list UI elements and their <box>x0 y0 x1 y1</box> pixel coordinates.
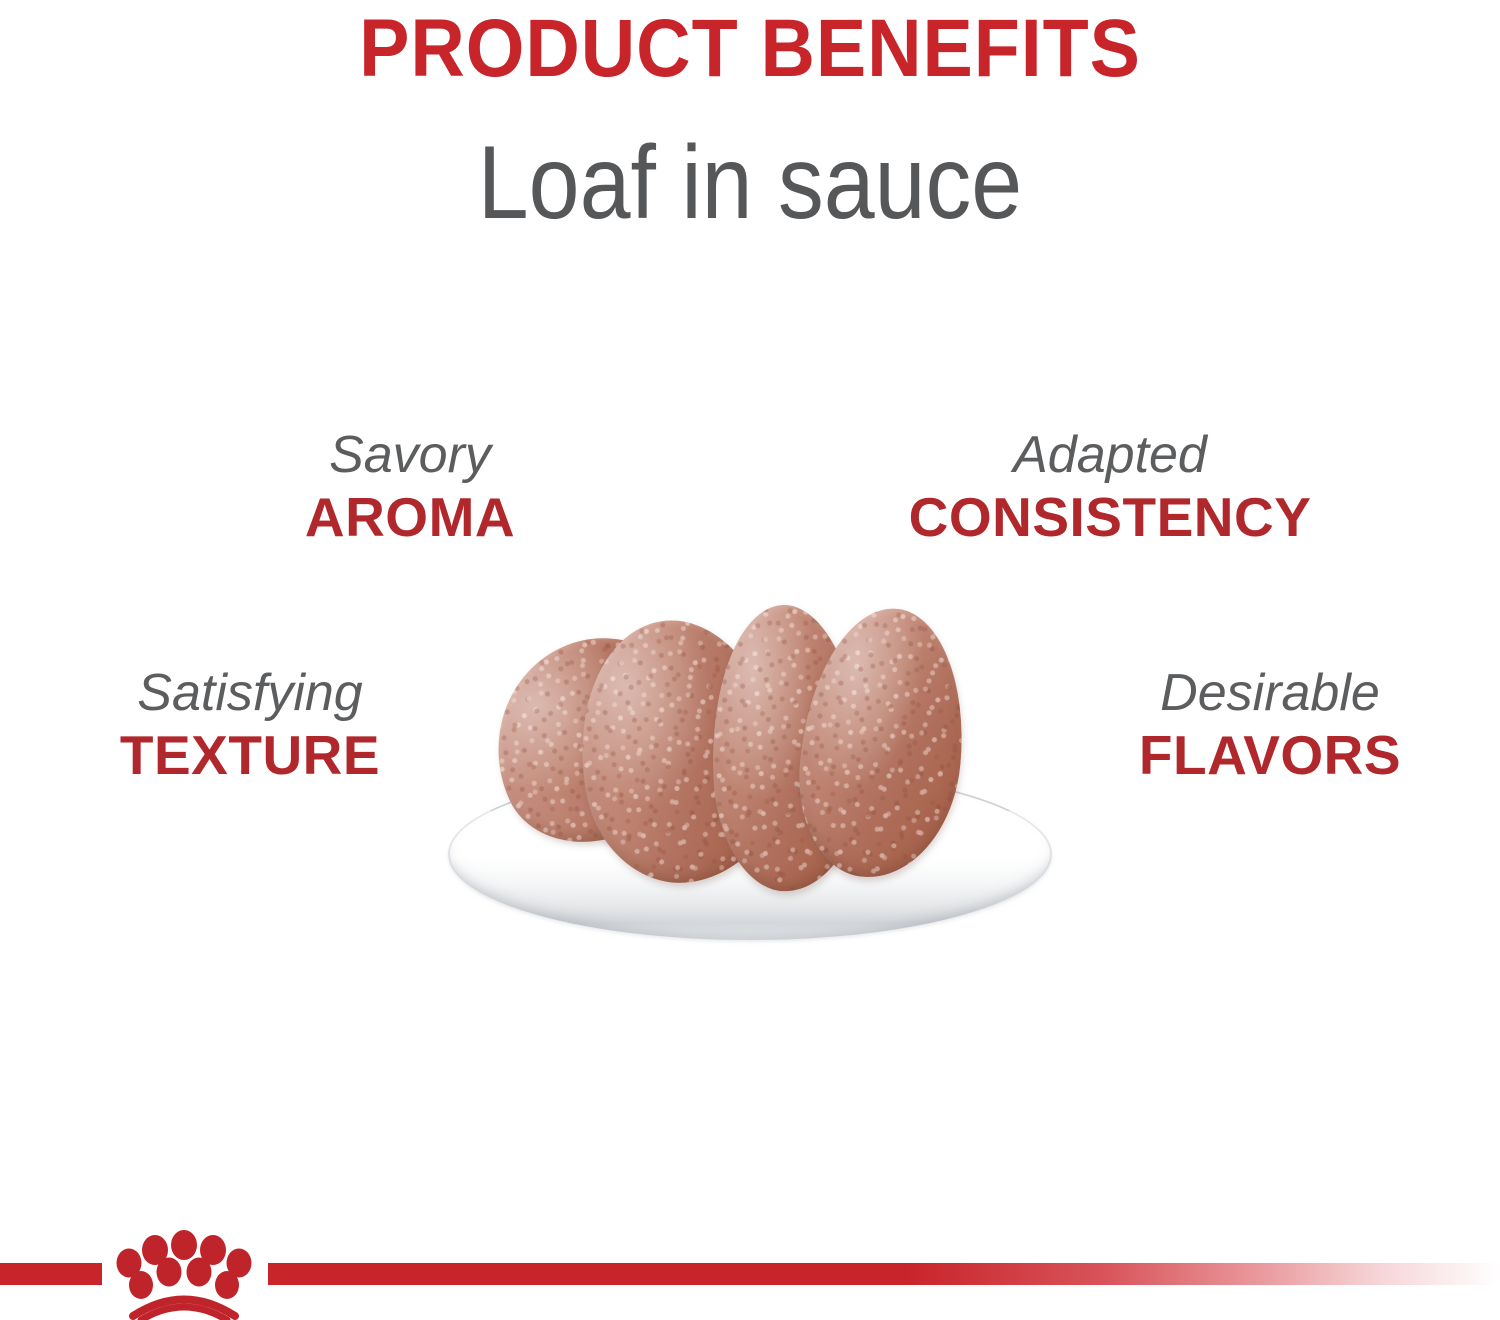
page-subtitle: Loaf in sauce <box>90 92 1410 236</box>
product-image <box>430 600 1070 980</box>
page-title: PRODUCT BENEFITS <box>60 0 1440 92</box>
benefit-consistency: Adapted CONSISTENCY <box>860 425 1360 549</box>
benefit-texture-noun: TEXTURE <box>20 723 480 787</box>
brand-bar-right <box>268 1263 1500 1285</box>
brand-bar-left <box>0 1263 102 1285</box>
benefit-aroma-noun: AROMA <box>180 485 640 549</box>
benefit-consistency-adjective: Adapted <box>860 425 1360 485</box>
benefit-consistency-noun: CONSISTENCY <box>860 485 1360 549</box>
benefit-aroma: Savory AROMA <box>180 425 640 549</box>
benefit-texture-adjective: Satisfying <box>20 663 480 723</box>
benefit-flavors-adjective: Desirable <box>1040 663 1500 723</box>
footer <box>0 1228 1500 1320</box>
benefit-flavors: Desirable FLAVORS <box>1040 663 1500 787</box>
header: PRODUCT BENEFITS Loaf in sauce <box>0 0 1500 236</box>
benefit-flavors-noun: FLAVORS <box>1040 723 1500 787</box>
benefit-texture: Satisfying TEXTURE <box>20 663 480 787</box>
benefit-aroma-adjective: Savory <box>180 425 640 485</box>
royal-canin-crown-logo <box>108 1228 260 1320</box>
